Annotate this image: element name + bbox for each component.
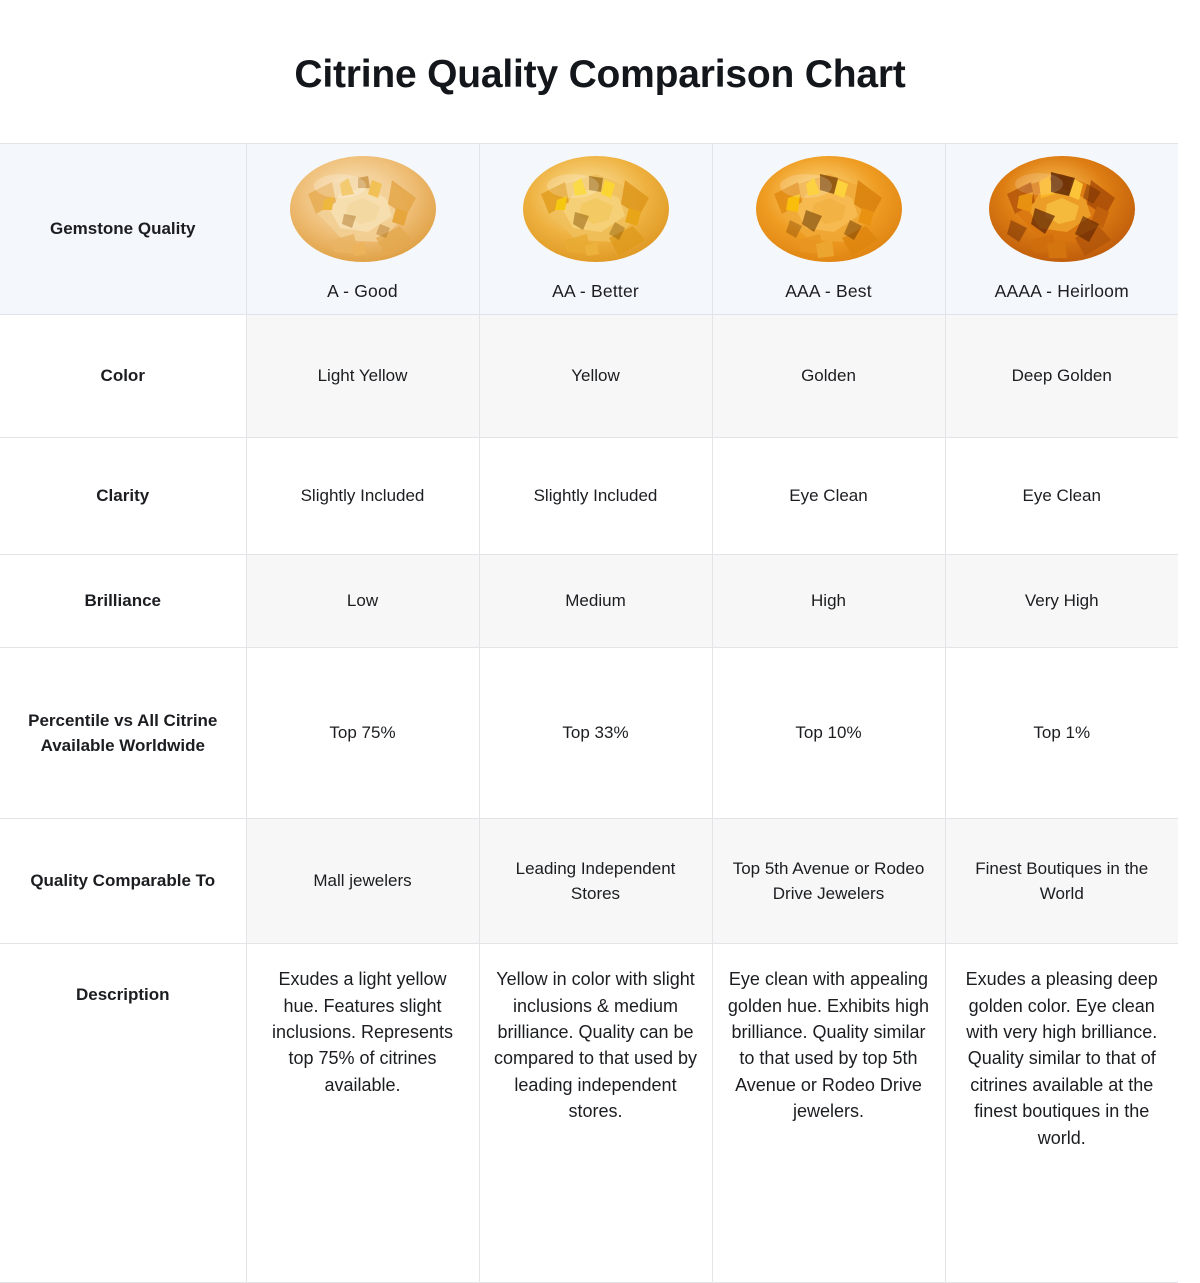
description-value-aaa: Eye clean with appealing golden hue. Exh… [712, 944, 945, 1283]
row-label-color: Color [0, 315, 246, 438]
gem-cell-aa: AA - Better [479, 143, 712, 314]
table-row-color: Color Light Yellow Yellow Golden Deep Go… [0, 315, 1178, 438]
percentile-value-a: Top 75% [246, 648, 479, 819]
color-value-aaa: Golden [712, 315, 945, 438]
description-value-aa: Yellow in color with slight inclusions &… [479, 944, 712, 1283]
description-value-aaaa: Exudes a pleasing deep golden color. Eye… [945, 944, 1178, 1283]
comparison-table-wrapper: Gemstone Quality [0, 143, 1178, 1283]
brilliance-value-aa: Medium [479, 555, 712, 648]
clarity-value-aaa: Eye Clean [712, 438, 945, 555]
comparable-value-aa: Leading Independent Stores [479, 819, 712, 944]
color-value-aaaa: Deep Golden [945, 315, 1178, 438]
color-value-a: Light Yellow [246, 315, 479, 438]
percentile-value-aaa: Top 10% [712, 648, 945, 819]
gem-cell-aaaa: AAAA - Heirloom [945, 143, 1178, 314]
gem-caption-aa: AA - Better [552, 278, 639, 304]
citrine-gem-aaa-icon [754, 154, 904, 264]
brilliance-value-aaaa: Very High [945, 555, 1178, 648]
table-row-gemstone-quality: Gemstone Quality [0, 143, 1178, 314]
description-value-a: Exudes a light yellow hue. Features slig… [246, 944, 479, 1283]
table-row-comparable: Quality Comparable To Mall jewelers Lead… [0, 819, 1178, 944]
clarity-value-a: Slightly Included [246, 438, 479, 555]
gem-caption-aaaa: AAAA - Heirloom [995, 278, 1129, 304]
row-label-clarity: Clarity [0, 438, 246, 555]
row-label-brilliance: Brilliance [0, 555, 246, 648]
row-label-comparable: Quality Comparable To [0, 819, 246, 944]
brilliance-value-aaa: High [712, 555, 945, 648]
gem-caption-a: A - Good [327, 278, 398, 304]
comparable-value-a: Mall jewelers [246, 819, 479, 944]
percentile-value-aa: Top 33% [479, 648, 712, 819]
clarity-value-aaaa: Eye Clean [945, 438, 1178, 555]
table-row-clarity: Clarity Slightly Included Slightly Inclu… [0, 438, 1178, 555]
citrine-gem-a-icon [288, 154, 438, 264]
gem-cell-aaa: AAA - Best [712, 143, 945, 314]
citrine-gem-aa-icon [521, 154, 671, 264]
citrine-gem-aaaa-icon [987, 154, 1137, 264]
comparable-value-aaa: Top 5th Avenue or Rodeo Drive Jewelers [712, 819, 945, 944]
gem-cell-a: A - Good [246, 143, 479, 314]
clarity-value-aa: Slightly Included [479, 438, 712, 555]
comparable-value-aaaa: Finest Boutiques in the World [945, 819, 1178, 944]
percentile-value-aaaa: Top 1% [945, 648, 1178, 819]
citrine-quality-comparison-table: Gemstone Quality [0, 143, 1178, 1283]
table-row-brilliance: Brilliance Low Medium High Very High [0, 555, 1178, 648]
brilliance-value-a: Low [246, 555, 479, 648]
table-row-percentile: Percentile vs All Citrine Available Worl… [0, 648, 1178, 819]
gem-caption-aaa: AAA - Best [785, 278, 872, 304]
page-title: Citrine Quality Comparison Chart [0, 0, 1200, 99]
table-row-description: Description Exudes a light yellow hue. F… [0, 944, 1178, 1283]
color-value-aa: Yellow [479, 315, 712, 438]
row-label-percentile: Percentile vs All Citrine Available Worl… [0, 648, 246, 819]
row-label-gemstone-quality: Gemstone Quality [0, 143, 246, 314]
row-label-description: Description [0, 944, 246, 1283]
